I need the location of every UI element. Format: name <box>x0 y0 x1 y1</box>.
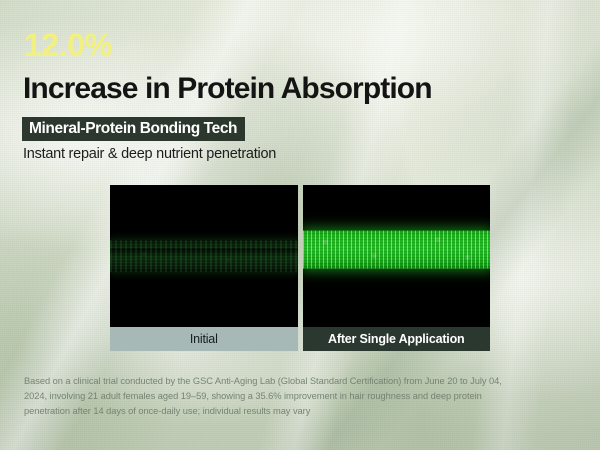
page-title: Increase in Protein Absorption <box>23 73 432 105</box>
micrograph-after <box>303 185 491 327</box>
fluorescence-band-low <box>110 241 298 272</box>
micrograph-before <box>110 185 298 327</box>
clinical-disclaimer: Based on a clinical trial conducted by t… <box>24 374 524 419</box>
fluorescence-band-high <box>303 231 491 269</box>
band-speckle-texture <box>303 231 491 269</box>
technology-badge: Mineral-Protein Bonding Tech <box>22 117 245 141</box>
caption-after: After Single Application <box>303 327 491 351</box>
band-speckle-texture <box>110 241 298 272</box>
subheadline: Instant repair & deep nutrient penetrati… <box>23 146 276 162</box>
before-after-comparison: Initial After Single Application <box>110 185 490 351</box>
panel-before: Initial <box>110 185 298 351</box>
percent-stat: 12.0% <box>24 29 112 61</box>
caption-before: Initial <box>110 327 298 351</box>
promo-infographic: 12.0% Increase in Protein Absorption Min… <box>0 0 600 450</box>
panel-after: After Single Application <box>303 185 491 351</box>
